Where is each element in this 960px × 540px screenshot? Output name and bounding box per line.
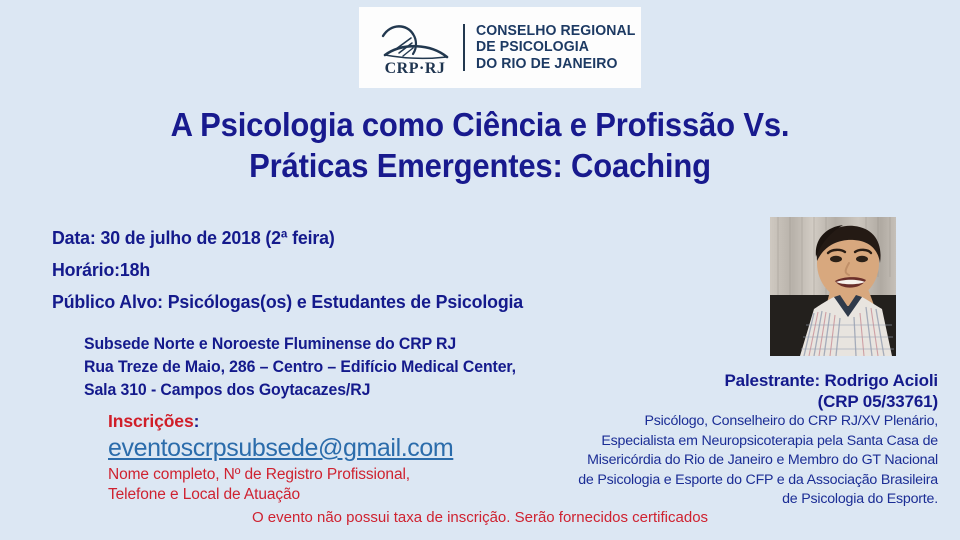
logo-divider [463, 24, 465, 71]
registration-label-colon: : [194, 411, 200, 431]
speaker-bio-line-2: Especialista em Neuropsicoterapia pela S… [536, 432, 938, 452]
event-audience: Público Alvo: Psicólogas(os) e Estudante… [52, 286, 666, 318]
speaker-crp-number: (CRP 05/33761) [540, 391, 938, 412]
event-info-block: Data: 30 de julho de 2018 (2ª feira) Hor… [52, 222, 692, 318]
event-date: Data: 30 de julho de 2018 (2ª feira) [52, 222, 666, 254]
logo-wordmark: CONSELHO REGIONAL DE PSICOLOGIA DO RIO D… [476, 23, 640, 72]
event-poster: CRP·RJ CONSELHO REGIONAL DE PSICOLOGIA D… [0, 0, 960, 540]
event-time: Horário:18h [52, 254, 666, 286]
speaker-name: Palestrante: Rodrigo Acioli [540, 370, 938, 391]
registration-label-text: Inscrições [108, 411, 194, 431]
title-line-2: Práticas Emergentes: Coaching [29, 145, 931, 186]
registration-note-line-1: Nome completo, Nº de Registro Profission… [108, 465, 578, 485]
speaker-bio-line-5: de Psicologia do Esporte. [536, 490, 938, 510]
crp-rj-bird-logo-icon: CRP·RJ [373, 18, 457, 78]
title-line-1: A Psicologia como Ciência e Profissão Vs… [29, 104, 931, 145]
venue-line-1: Subsede Norte e Noroeste Fluminense do C… [84, 333, 660, 356]
logo-line-1: CONSELHO REGIONAL [476, 23, 636, 39]
registration-block: Inscrições: eventoscrpsubsede@gmail.com … [108, 410, 578, 505]
registration-email-link[interactable]: eventoscrpsubsede@gmail.com [108, 434, 578, 463]
registration-label: Inscrições: [108, 410, 578, 432]
speaker-portrait-photo [770, 217, 896, 356]
registration-instructions: Nome completo, Nº de Registro Profission… [108, 465, 578, 505]
crp-rj-logo-box: CRP·RJ CONSELHO REGIONAL DE PSICOLOGIA D… [359, 7, 641, 88]
speaker-bio-line-3: Misericórdia do Rio de Janeiro e Membro … [536, 451, 938, 471]
speaker-bio-line-1: Psicólogo, Conselheiro do CRP RJ/XV Plen… [536, 412, 938, 432]
speaker-bio-line-4: de Psicologia e Esporte do CFP e da Asso… [536, 471, 938, 491]
footer-note: O evento não possui taxa de inscrição. S… [0, 509, 960, 526]
logo-line-3: DO RIO DE JANEIRO [476, 56, 636, 72]
speaker-bio-block: Psicólogo, Conselheiro do CRP RJ/XV Plen… [536, 412, 938, 510]
registration-note-line-2: Telefone e Local de Atuação [108, 485, 578, 505]
svg-text:CRP·RJ: CRP·RJ [385, 60, 446, 77]
logo-line-2: DE PSICOLOGIA [476, 39, 636, 55]
poster-title: A Psicologia como Ciência e Profissão Vs… [0, 104, 960, 186]
speaker-name-block: Palestrante: Rodrigo Acioli (CRP 05/3376… [540, 370, 938, 412]
